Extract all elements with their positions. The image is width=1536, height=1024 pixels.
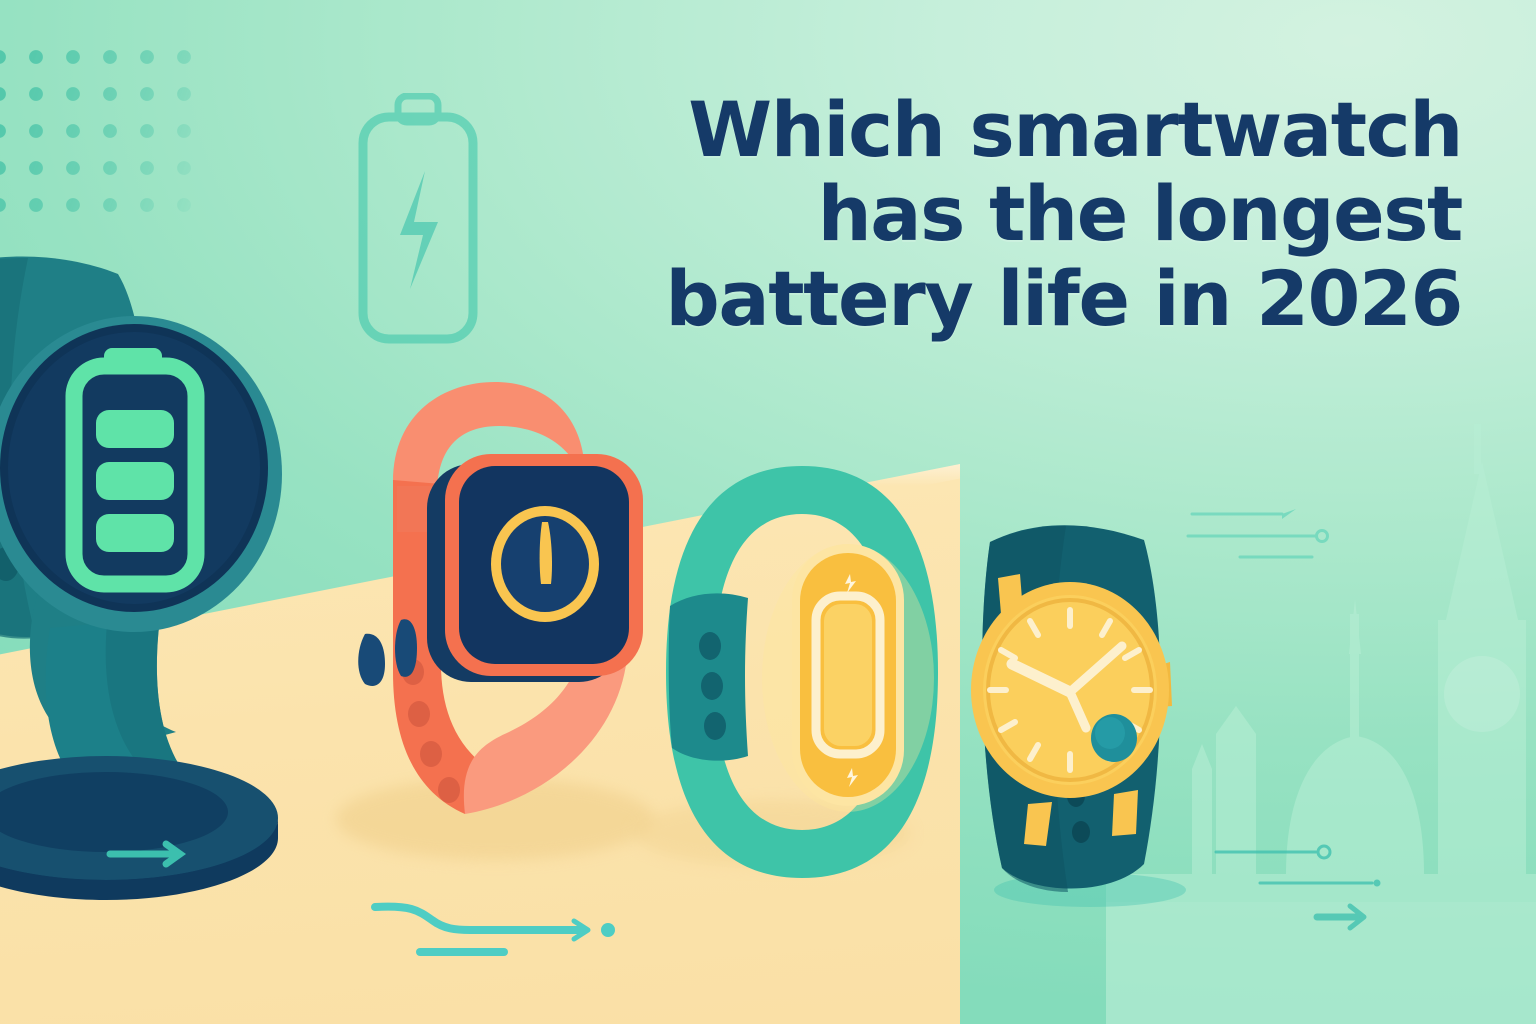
- gold-analog-watch[interactable]: [938, 512, 1222, 908]
- dot-grid-pattern: [0, 50, 207, 228]
- headline-line-3: battery life in 2026: [612, 257, 1462, 341]
- headline-line-1: Which smartwatch: [612, 88, 1462, 172]
- page-title: Which smartwatch has the longest battery…: [612, 88, 1462, 341]
- deco-lines-floor: [370, 890, 640, 960]
- deco-lines-lower-right: [1212, 840, 1462, 950]
- hero-illustration-canvas: Which smartwatch has the longest battery…: [0, 0, 1536, 1024]
- battery-charging-watermark-icon: [356, 93, 480, 346]
- round-smartwatch-on-stand[interactable]: [0, 262, 350, 962]
- headline-line-2: has the longest: [612, 172, 1462, 256]
- coral-square-smartwatch[interactable]: [349, 372, 671, 882]
- teal-fitness-band[interactable]: [652, 456, 944, 888]
